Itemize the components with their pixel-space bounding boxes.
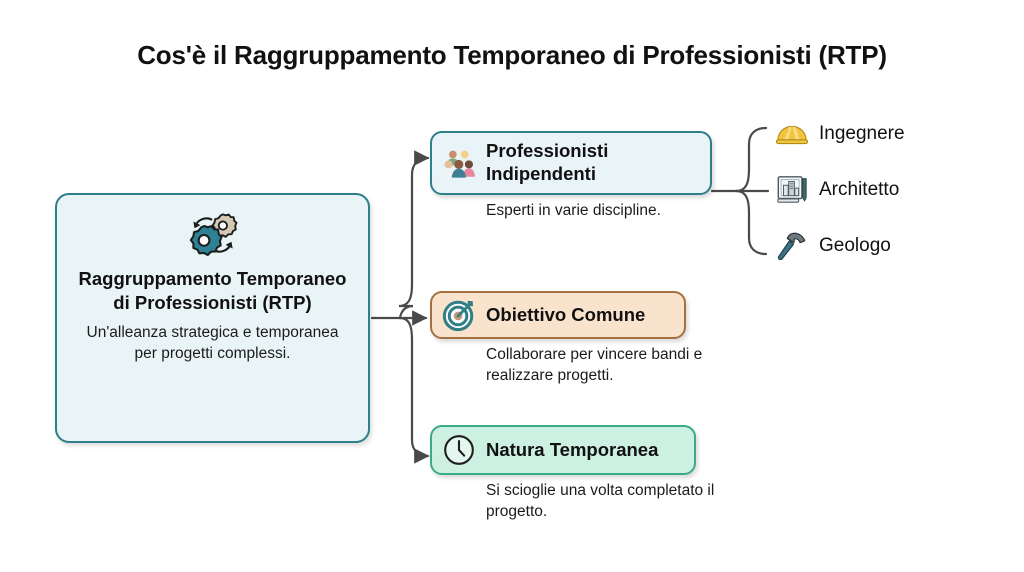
branch-3-description: Si scioglie una volta completato il prog… (430, 481, 760, 523)
branch-1-label: Professionisti Indipendenti (486, 140, 696, 186)
branch-1-description: Esperti in varie discipline. (430, 201, 730, 222)
root-node-rtp[interactable]: Raggruppamento Temporaneo di Professioni… (55, 193, 370, 443)
leaf-label-geologo: Geologo (819, 235, 891, 258)
root-node-title: Raggruppamento Temporaneo di Professioni… (57, 267, 368, 315)
branch-obiettivo-comune[interactable]: Obiettivo Comune Collaborare per vincere… (430, 291, 760, 387)
page-title: Cos'è il Raggruppamento Temporaneo di Pr… (0, 40, 1024, 71)
root-node-description: Un'alleanza strategica e temporanea per … (57, 323, 368, 365)
leaf-item-geologo[interactable]: Geologo (775, 229, 891, 263)
clock-icon (442, 433, 476, 467)
hard-hat-icon (775, 117, 809, 151)
branch-2-label: Obiettivo Comune (486, 304, 645, 327)
target-dart-icon (442, 298, 476, 332)
branch-1-box[interactable]: Professionisti Indipendenti (430, 131, 712, 195)
hammer-icon (775, 229, 809, 263)
branch-3-label: Natura Temporanea (486, 439, 658, 462)
leaf-item-architetto[interactable]: Architetto (775, 173, 899, 207)
gears-icon (184, 209, 242, 261)
branch-natura-temporanea[interactable]: Natura Temporanea Si scioglie una volta … (430, 425, 760, 523)
people-group-icon (442, 146, 476, 180)
leaf-item-ingegnere[interactable]: Ingegnere (775, 117, 905, 151)
branch-3-box[interactable]: Natura Temporanea (430, 425, 696, 475)
diagram-canvas: Cos'è il Raggruppamento Temporaneo di Pr… (0, 0, 1024, 572)
leaf-label-ingegnere: Ingegnere (819, 123, 905, 146)
branch-2-description: Collaborare per vincere bandi e realizza… (430, 345, 760, 387)
branch-2-box[interactable]: Obiettivo Comune (430, 291, 686, 339)
branch-professionisti-indipendenti[interactable]: Professionisti Indipendenti Esperti in v… (430, 131, 730, 222)
blueprint-icon (775, 173, 809, 207)
leaf-label-architetto: Architetto (819, 179, 899, 202)
